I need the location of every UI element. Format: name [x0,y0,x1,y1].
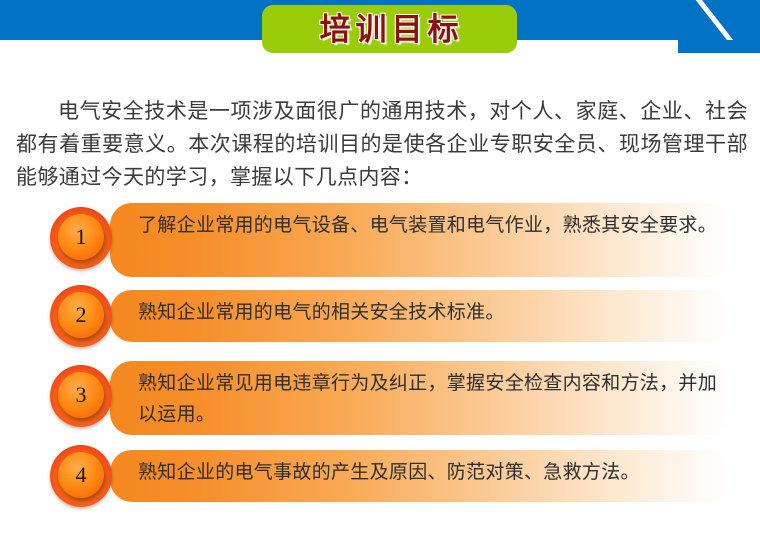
objective-badge-2: 2 [50,285,112,347]
objective-bar-3: 熟知企业常见用电违章行为及纠正，掌握安全检查内容和方法，并加以运用。 [110,361,730,435]
objective-text-2: 熟知企业常用的电气的相关安全技术标准。 [110,290,730,335]
slide-canvas: 培训目标 电气安全技术是一项涉及面很广的通用技术，对个人、家庭、企业、社会都有着… [0,0,760,537]
objective-badge-inner-1: 1 [58,214,104,260]
objective-badge-inner-3: 3 [58,372,104,418]
objective-number-2: 2 [76,304,87,327]
objective-number-1: 1 [76,226,87,249]
objective-bar-4: 熟知企业的电气事故的产生及原因、防范对策、急救方法。 [110,450,730,502]
objective-list: 了解企业常用的电气设备、电气装置和电气作业，熟悉其安全要求。 1 熟知企业常用的… [0,196,760,514]
objective-text-4: 熟知企业的电气事故的产生及原因、防范对策、急救方法。 [110,450,730,495]
page-title: 培训目标 [316,14,464,45]
objective-badge-1: 1 [50,207,112,269]
objective-text-1: 了解企业常用的电气设备、电气装置和电气作业，熟悉其安全要求。 [110,203,730,248]
objective-badge-3: 3 [50,365,112,427]
objective-bar-2: 熟知企业常用的电气的相关安全技术标准。 [110,290,730,342]
objective-bar-1: 了解企业常用的电气设备、电气装置和电气作业，熟悉其安全要求。 [110,203,730,277]
header-corner-notch-decoration [678,40,760,53]
list-item: 熟知企业常用的电气的相关安全技术标准。 2 [0,284,760,354]
objective-number-4: 4 [76,464,87,487]
list-item: 熟知企业的电气事故的产生及原因、防范对策、急救方法。 4 [0,444,760,514]
objective-badge-inner-2: 2 [58,292,104,338]
list-item: 了解企业常用的电气设备、电气装置和电气作业，熟悉其安全要求。 1 [0,196,760,284]
intro-paragraph: 电气安全技术是一项涉及面很广的通用技术，对个人、家庭、企业、社会都有着重要意义。… [16,95,748,194]
objective-number-3: 3 [76,384,87,407]
list-item: 熟知企业常见用电违章行为及纠正，掌握安全检查内容和方法，并加以运用。 3 [0,354,760,444]
objective-text-3: 熟知企业常见用电违章行为及纠正，掌握安全检查内容和方法，并加以运用。 [110,361,730,437]
objective-badge-inner-4: 4 [58,452,104,498]
title-plate: 培训目标 [262,5,517,53]
header-diagonal-slash-decoration [693,0,750,64]
objective-badge-4: 4 [50,445,112,507]
